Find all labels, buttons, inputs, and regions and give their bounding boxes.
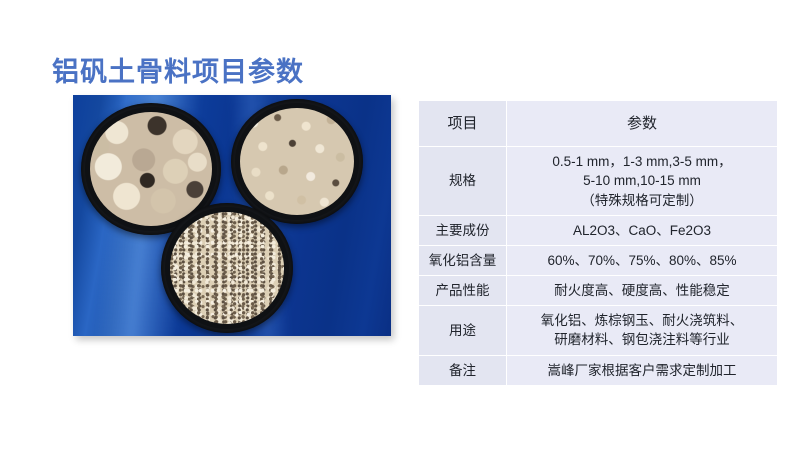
specification-table: 项目 参数 规格 0.5-1 mm，1-3 mm,3-5 mm， 5-10 mm…: [418, 100, 778, 386]
row-label-main-composition: 主要成份: [419, 215, 507, 245]
coarse-aggregate-fill: [90, 112, 212, 226]
table-body: 规格 0.5-1 mm，1-3 mm,3-5 mm， 5-10 mm,10-15…: [419, 147, 778, 385]
row-value-remark: 嵩峰厂家根据客户需求定制加工: [507, 355, 778, 385]
row-value-product-performance: 耐火度高、硬度高、性能稳定: [507, 276, 778, 306]
row-label-alumina-content: 氧化铝含量: [419, 245, 507, 275]
table-row: 备注 嵩峰厂家根据客户需求定制加工: [419, 355, 778, 385]
row-value-specification: 0.5-1 mm，1-3 mm,3-5 mm， 5-10 mm,10-15 mm…: [507, 147, 778, 215]
value-line: 氧化铝、炼棕钢玉、耐火浇筑料、: [513, 311, 771, 330]
table-header-row: 项目 参数: [419, 101, 778, 147]
row-value-main-composition: AL2O3、CaO、Fe2O3: [507, 215, 778, 245]
row-label-product-performance: 产品性能: [419, 276, 507, 306]
table-row: 规格 0.5-1 mm，1-3 mm,3-5 mm， 5-10 mm,10-15…: [419, 147, 778, 215]
value-line: 0.5-1 mm，1-3 mm,3-5 mm，: [513, 152, 771, 171]
value-line: 5-10 mm,10-15 mm: [513, 171, 771, 190]
bowl-fine-aggregate: [161, 203, 293, 333]
value-line: AL2O3、CaO、Fe2O3: [513, 221, 771, 240]
page-title: 铝矾土骨料项目参数: [52, 56, 304, 88]
row-value-usage: 氧化铝、炼棕钢玉、耐火浇筑料、 研磨材料、钢包浇注料等行业: [507, 306, 778, 355]
value-line: 60%、70%、75%、80%、85%: [513, 251, 771, 270]
row-label-usage: 用途: [419, 306, 507, 355]
value-line: 嵩峰厂家根据客户需求定制加工: [513, 361, 771, 380]
row-label-specification: 规格: [419, 147, 507, 215]
value-line: （特殊规格可定制）: [513, 191, 771, 210]
row-value-alumina-content: 60%、70%、75%、80%、85%: [507, 245, 778, 275]
header-cell-param: 参数: [507, 101, 778, 147]
medium-aggregate-fill: [240, 108, 354, 215]
table-row: 产品性能 耐火度高、硬度高、性能稳定: [419, 276, 778, 306]
fine-aggregate-fill: [170, 212, 284, 324]
value-line: 耐火度高、硬度高、性能稳定: [513, 281, 771, 300]
bowl-medium-aggregate: [231, 99, 363, 224]
product-photo: [73, 95, 391, 336]
photo-blue-background: [73, 95, 391, 336]
table-row: 主要成份 AL2O3、CaO、Fe2O3: [419, 215, 778, 245]
header-cell-item: 项目: [419, 101, 507, 147]
row-label-remark: 备注: [419, 355, 507, 385]
table-row: 氧化铝含量 60%、70%、75%、80%、85%: [419, 245, 778, 275]
table-row: 用途 氧化铝、炼棕钢玉、耐火浇筑料、 研磨材料、钢包浇注料等行业: [419, 306, 778, 355]
value-line: 研磨材料、钢包浇注料等行业: [513, 330, 771, 349]
